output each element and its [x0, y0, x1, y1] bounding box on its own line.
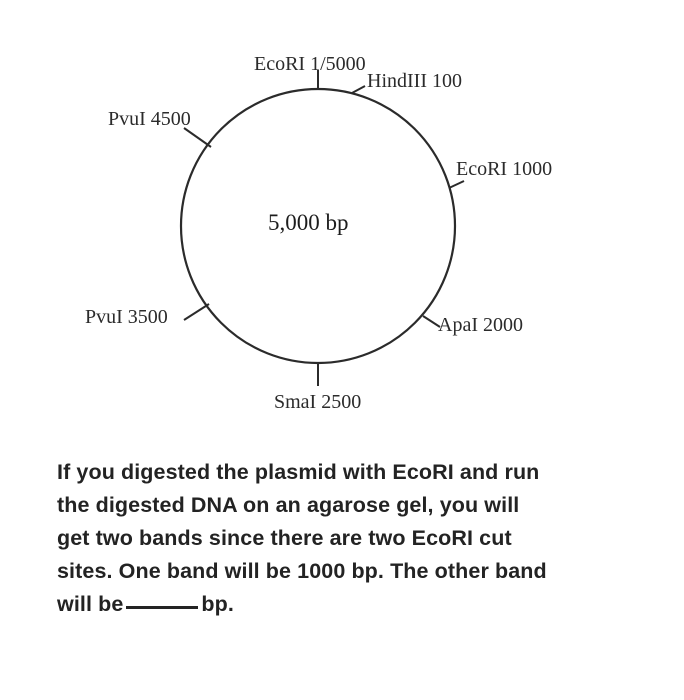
site-label-hindiii-100: HindIII 100 [367, 71, 462, 91]
question-line-4: sites. One band will be 1000 bp. The oth… [57, 555, 627, 588]
tick-ecori-1000 [449, 181, 464, 188]
question-line-1: If you digested the plasmid with EcoRI a… [57, 456, 627, 489]
site-label-ecori-5000: EcoRI 1/5000 [254, 54, 366, 74]
question-line-2: the digested DNA on an agarose gel, you … [57, 489, 627, 522]
site-label-ecori-1000: EcoRI 1000 [456, 159, 552, 179]
question-line-5: will bebp. [57, 588, 627, 621]
question-text: If you digested the plasmid with EcoRI a… [57, 456, 627, 621]
site-label-pvui-3500: PvuI 3500 [85, 307, 168, 327]
plasmid-map: EcoRI 1/5000 HindIII 100 EcoRI 1000 ApaI… [0, 0, 684, 440]
question-line-5-prefix: will be [57, 592, 123, 616]
tick-pvui-3500 [184, 304, 209, 320]
site-label-smai-2500: SmaI 2500 [274, 392, 361, 412]
site-label-apai-2000: ApaI 2000 [438, 315, 523, 335]
tick-pvui-4500 [184, 128, 211, 147]
answer-blank[interactable] [126, 606, 198, 609]
question-line-5-suffix: bp. [201, 592, 234, 616]
site-label-pvui-4500: PvuI 4500 [108, 109, 191, 129]
tick-hindiii-100 [352, 86, 365, 93]
plasmid-size-label: 5,000 bp [268, 210, 349, 236]
question-line-3: get two bands since there are two EcoRI … [57, 522, 627, 555]
